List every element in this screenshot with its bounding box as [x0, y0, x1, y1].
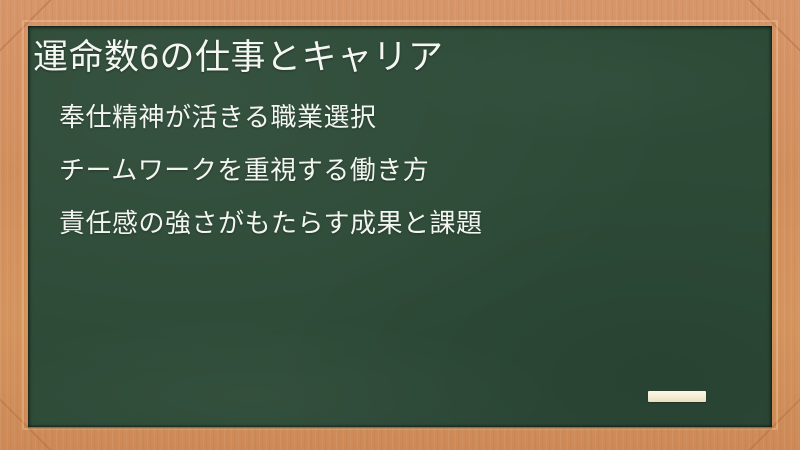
chalkboard-slide: 運命数6の仕事とキャリア 奉仕精神が活きる職業選択 チームワークを重視する働き方… [0, 0, 800, 450]
chalk-ledge-shadow [28, 427, 772, 430]
slide-title: 運命数6の仕事とキャリア [33, 36, 733, 80]
bullet-item-3: 責任感の強さがもたらす成果と課題 [59, 210, 749, 236]
bullet-list: 奉仕精神が活きる職業選択 チームワークを重視する働き方 責任感の強さがもたらす成… [59, 104, 749, 236]
bullet-item-2: チームワークを重視する働き方 [59, 157, 749, 183]
bullet-item-1: 奉仕精神が活きる職業選択 [59, 104, 749, 130]
chalk-stick-icon [648, 391, 706, 402]
chalkboard-surface: 運命数6の仕事とキャリア 奉仕精神が活きる職業選択 チームワークを重視する働き方… [28, 26, 772, 427]
